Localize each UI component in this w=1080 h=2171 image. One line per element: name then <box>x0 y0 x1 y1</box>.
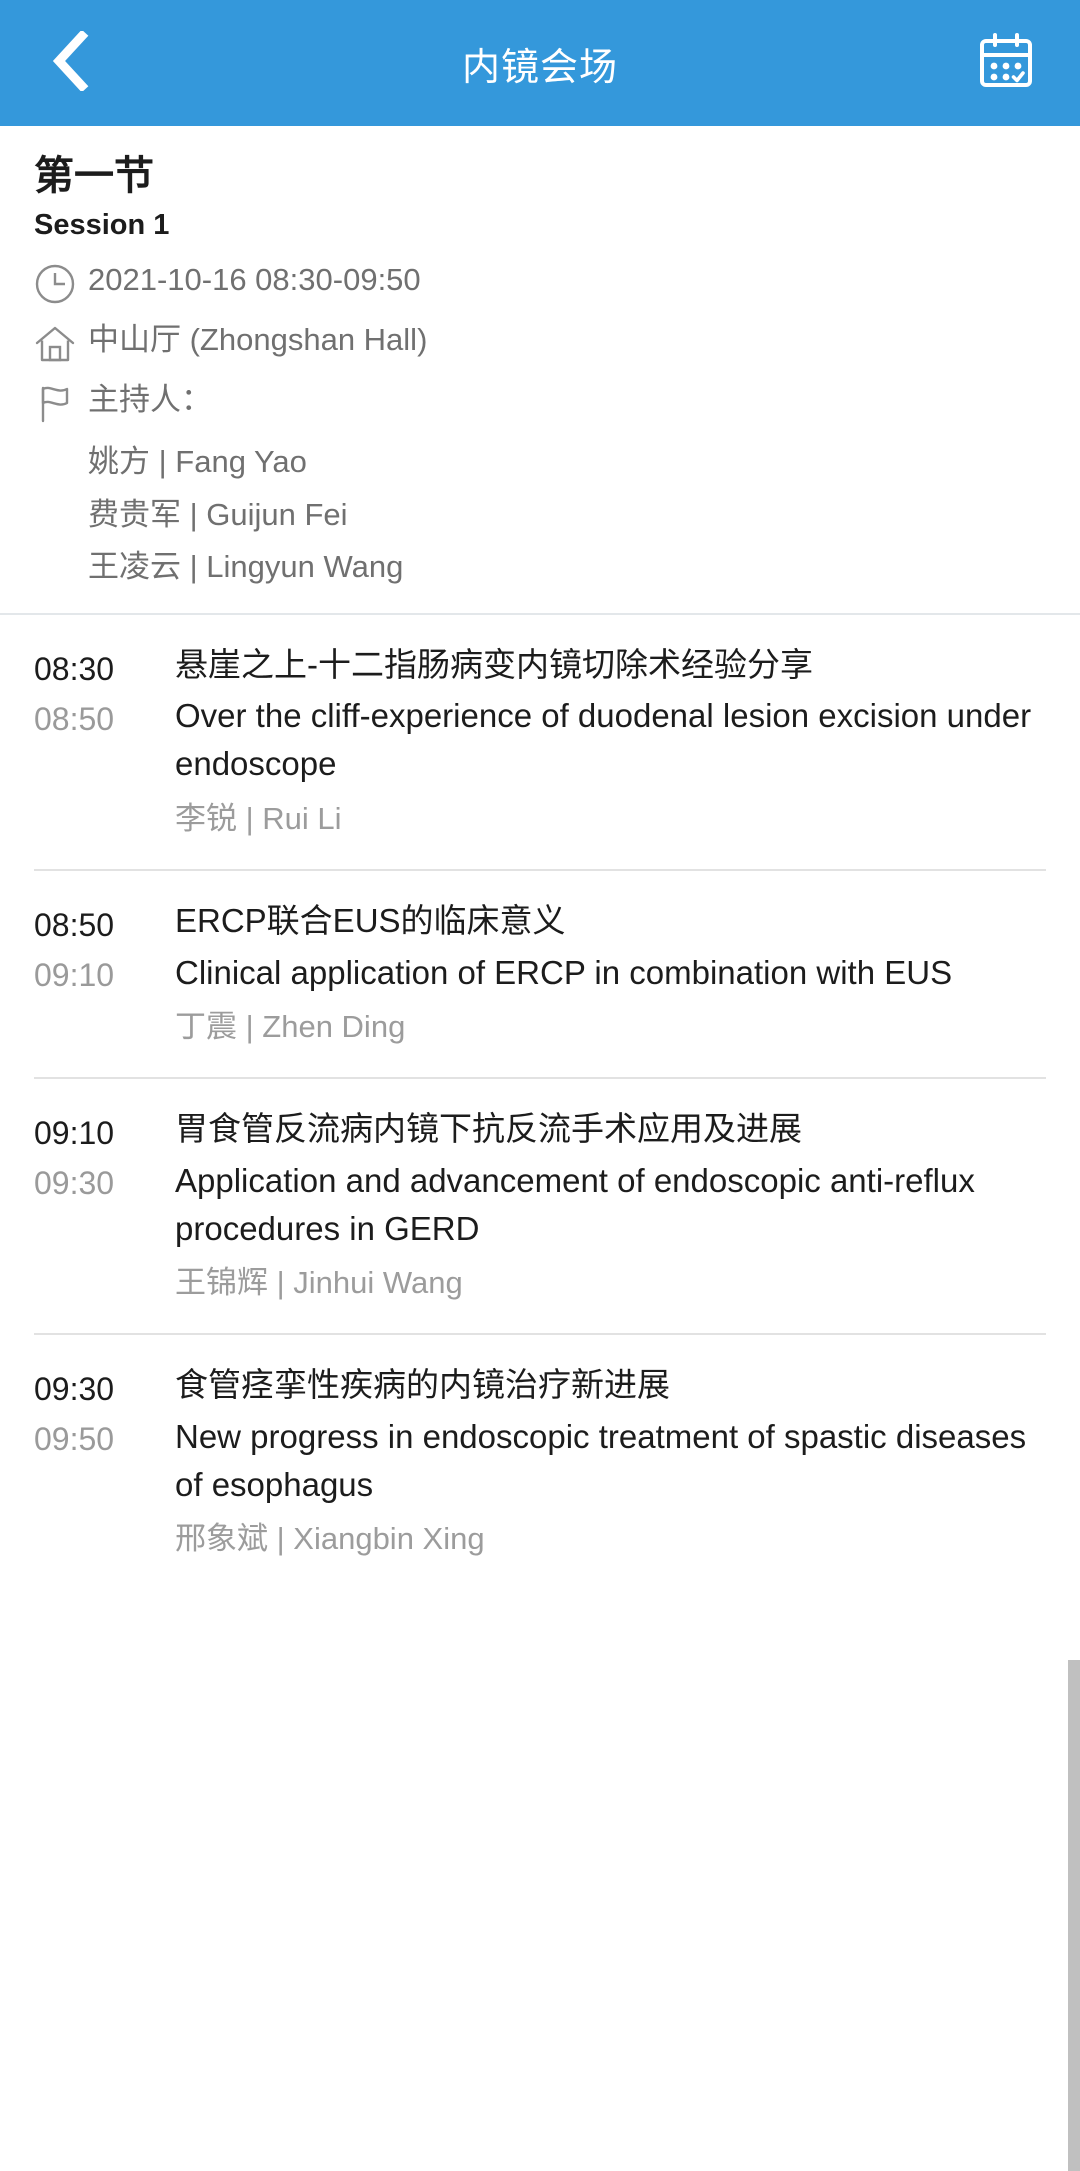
flag-icon <box>34 378 88 428</box>
session-title-cn: 第一节 <box>34 152 1046 201</box>
session-datetime: 2021-10-16 08:30-09:50 <box>88 258 421 303</box>
schedule-item-end-time: 09:50 <box>34 1415 175 1463</box>
schedule-item-times: 08:30 08:50 <box>34 641 175 843</box>
session-hosts-label: 主持人： <box>88 378 212 423</box>
chevron-left-icon <box>48 31 92 96</box>
session-title-en: Session 1 <box>34 207 1046 245</box>
schedule-item-title-en: New progress in endoscopic treatment of … <box>175 1413 1046 1509</box>
schedule-item[interactable]: 09:30 09:50 食管痉挛性疾病的内镜治疗新进展 New progress… <box>0 1335 1080 1589</box>
vertical-scrollbar[interactable] <box>1068 1660 1080 2171</box>
schedule-item-start-time: 08:50 <box>34 901 175 949</box>
session-venue: 中山厅 (Zhongshan Hall) <box>88 318 427 363</box>
schedule-item-title-cn: 悬崖之上-十二指肠病变内镜切除术经验分享 <box>175 641 1046 689</box>
schedule-item-body: ERCP联合EUS的临床意义 Clinical application of E… <box>175 897 1046 1051</box>
calendar-button[interactable] <box>958 0 1054 126</box>
schedule-item-times: 08:50 09:10 <box>34 897 175 1051</box>
schedule-item-start-time: 09:30 <box>34 1365 175 1413</box>
clock-icon <box>34 258 88 308</box>
schedule-item-body: 食管痉挛性疾病的内镜治疗新进展 New progress in endoscop… <box>175 1361 1046 1563</box>
schedule-item-times: 09:10 09:30 <box>34 1105 175 1307</box>
session-host-1: 姚方 | Fang Yao <box>34 438 1046 486</box>
session-header: 第一节 Session 1 2021-10-16 08:30-09:50 中山厅… <box>0 126 1080 613</box>
session-host-2: 费贵军 | Guijun Fei <box>34 491 1046 539</box>
schedule-item-title-en: Clinical application of ERCP in combinat… <box>175 949 1046 997</box>
schedule-item-end-time: 09:10 <box>34 951 175 999</box>
session-host-3: 王凌云 | Lingyun Wang <box>34 543 1046 591</box>
schedule-item-end-time: 09:30 <box>34 1159 175 1207</box>
schedule-item[interactable]: 08:30 08:50 悬崖之上-十二指肠病变内镜切除术经验分享 Over th… <box>0 615 1080 869</box>
schedule-item-body: 胃食管反流病内镜下抗反流手术应用及进展 Application and adva… <box>175 1105 1046 1307</box>
schedule-item-title-cn: 食管痉挛性疾病的内镜治疗新进展 <box>175 1361 1046 1409</box>
home-icon <box>34 318 88 368</box>
app-header: 内镜会场 <box>0 0 1080 126</box>
schedule-item[interactable]: 09:10 09:30 胃食管反流病内镜下抗反流手术应用及进展 Applicat… <box>0 1079 1080 1333</box>
schedule-item-speaker: 丁震 | Zhen Ding <box>175 1004 1046 1051</box>
schedule-item-body: 悬崖之上-十二指肠病变内镜切除术经验分享 Over the cliff-expe… <box>175 641 1046 843</box>
schedule-item-speaker: 邢象斌 | Xiangbin Xing <box>175 1516 1046 1563</box>
schedule-item-speaker: 王锦辉 | Jinhui Wang <box>175 1260 1046 1307</box>
schedule-item-end-time: 08:50 <box>34 695 175 743</box>
schedule-item-title-cn: 胃食管反流病内镜下抗反流手术应用及进展 <box>175 1105 1046 1153</box>
session-datetime-row: 2021-10-16 08:30-09:50 <box>34 258 1046 308</box>
session-venue-row: 中山厅 (Zhongshan Hall) <box>34 318 1046 368</box>
session-hosts-row: 主持人： <box>34 378 1046 428</box>
schedule-item-title-en: Over the cliff-experience of duodenal le… <box>175 692 1046 788</box>
calendar-check-icon <box>978 33 1034 94</box>
schedule-item-start-time: 08:30 <box>34 645 175 693</box>
schedule-item-start-time: 09:10 <box>34 1109 175 1157</box>
schedule-item-times: 09:30 09:50 <box>34 1361 175 1563</box>
schedule-item-title-cn: ERCP联合EUS的临床意义 <box>175 897 1046 945</box>
schedule-item-title-en: Application and advancement of endoscopi… <box>175 1157 1046 1253</box>
schedule-item-speaker: 李锐 | Rui Li <box>175 796 1046 843</box>
schedule-list: 08:30 08:50 悬崖之上-十二指肠病变内镜切除术经验分享 Over th… <box>0 615 1080 1589</box>
schedule-item[interactable]: 08:50 09:10 ERCP联合EUS的临床意义 Clinical appl… <box>0 871 1080 1077</box>
back-button[interactable] <box>22 0 118 126</box>
page-title: 内镜会场 <box>462 36 618 91</box>
